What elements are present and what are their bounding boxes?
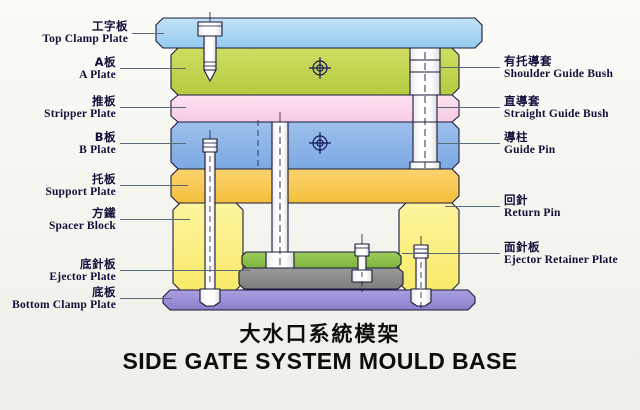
leader-ejector-retainer-plate (402, 253, 500, 254)
diagram-title-en: SIDE GATE SYSTEM MOULD BASE (0, 348, 640, 375)
label-shoulder-guide-bush-en: Shoulder Guide Bush (504, 68, 613, 80)
part-cap-screw-head (198, 22, 222, 36)
label-b-plate: B板 B Plate (0, 131, 116, 156)
label-ejector-retainer-plate-en: Ejector Retainer Plate (504, 254, 618, 266)
leader-b-plate (120, 143, 186, 144)
label-spacer-block-cn: 方鐵 (0, 207, 116, 219)
part-cap-screw-shank (204, 36, 216, 70)
label-ejector-retainer-plate-cn: 面針板 (504, 241, 618, 253)
label-straight-guide-bush-cn: 直導套 (504, 95, 609, 107)
label-top-clamp-plate-en: Top Clamp Plate (0, 33, 128, 45)
leader-top-clamp-plate (132, 33, 164, 34)
label-ejector-retainer-plate: 面針板 Ejector Retainer Plate (504, 241, 618, 266)
label-a-plate-en: A Plate (0, 69, 116, 81)
label-stripper-plate: 推板 Stripper Plate (0, 95, 116, 120)
label-spacer-block: 方鐵 Spacer Block (0, 207, 116, 232)
leader-return-pin (445, 206, 500, 207)
leader-guide-pin (437, 143, 500, 144)
label-support-plate: 托板 Support Plate (0, 173, 116, 198)
leader-spacer-block (120, 219, 190, 220)
part-return-pin-left-head (203, 139, 217, 152)
label-top-clamp-plate-cn: 工字板 (0, 20, 128, 32)
leader-bottom-clamp-plate (120, 298, 172, 299)
part-ejector-screw-shank (358, 256, 366, 270)
label-bottom-clamp-plate-cn: 底板 (0, 286, 116, 298)
label-top-clamp-plate: 工字板 Top Clamp Plate (0, 20, 128, 45)
label-a-plate-cn: A板 (0, 56, 116, 68)
label-a-plate: A板 A Plate (0, 56, 116, 81)
label-bottom-clamp-plate-en: Bottom Clamp Plate (0, 299, 116, 311)
label-guide-pin-cn: 導柱 (504, 131, 555, 143)
label-stripper-plate-cn: 推板 (0, 95, 116, 107)
part-return-pin-left-foot (200, 289, 220, 306)
label-return-pin-en: Return Pin (504, 207, 561, 219)
label-spacer-block-en: Spacer Block (0, 220, 116, 232)
label-support-plate-en: Support Plate (0, 186, 116, 198)
label-return-pin-cn: 回針 (504, 194, 561, 206)
leader-a-plate (120, 68, 186, 69)
diagram-canvas: 工字板 Top Clamp Plate A板 A Plate 推板 Stripp… (0, 0, 640, 410)
part-ejector-plate (239, 268, 403, 289)
part-spacer-block-right (399, 203, 459, 290)
label-ejector-plate-en: Ejector Plate (0, 271, 116, 283)
diagram-subtitle: SIDE GATE SYSTEM MOULD BASE (0, 348, 640, 375)
label-shoulder-guide-bush: 有托導套 Shoulder Guide Bush (504, 55, 613, 80)
label-bottom-clamp-plate: 底板 Bottom Clamp Plate (0, 286, 116, 311)
leader-straight-guide-bush (437, 107, 500, 108)
label-guide-pin: 導柱 Guide Pin (504, 131, 555, 156)
label-stripper-plate-en: Stripper Plate (0, 108, 116, 120)
label-support-plate-cn: 托板 (0, 173, 116, 185)
leader-shoulder-guide-bush (440, 67, 500, 68)
label-ejector-plate-cn: 底針板 (0, 258, 116, 270)
label-ejector-plate: 底針板 Ejector Plate (0, 258, 116, 283)
leader-stripper-plate (120, 107, 186, 108)
label-shoulder-guide-bush-cn: 有托導套 (504, 55, 613, 67)
label-return-pin: 回針 Return Pin (504, 194, 561, 219)
label-straight-guide-bush: 直導套 Straight Guide Bush (504, 95, 609, 120)
leader-ejector-plate (120, 270, 250, 271)
label-straight-guide-bush-en: Straight Guide Bush (504, 108, 609, 120)
label-b-plate-cn: B板 (0, 131, 116, 143)
diagram-title-cn: 大水口系統模架 (0, 318, 640, 348)
leader-support-plate (120, 185, 188, 186)
part-return-pin-right-head (414, 245, 428, 258)
part-ejector-screw-head (355, 244, 369, 256)
label-guide-pin-en: Guide Pin (504, 144, 555, 156)
diagram-title: 大水口系統模架 (0, 318, 640, 348)
label-b-plate-en: B Plate (0, 144, 116, 156)
